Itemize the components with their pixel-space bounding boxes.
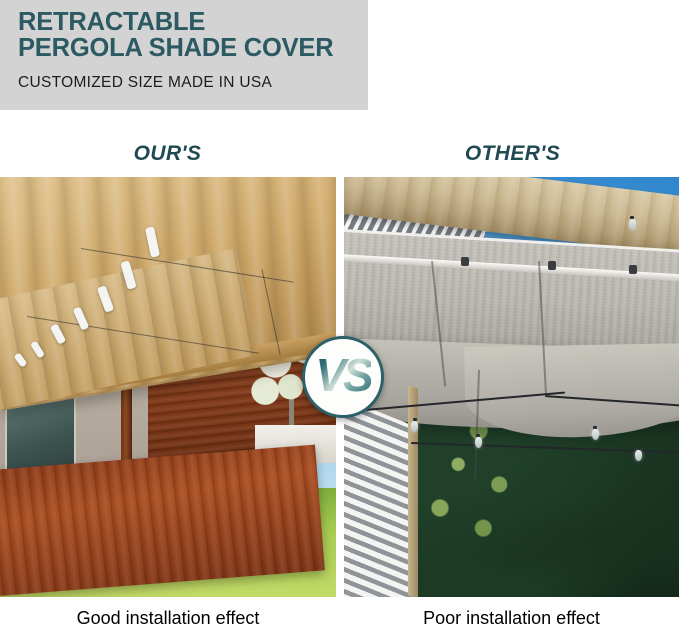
- photo-good-installation: [0, 177, 336, 597]
- white-louvered-shutter: [344, 395, 416, 597]
- string-light-bulb: [629, 219, 636, 230]
- vs-label: VS: [315, 352, 370, 398]
- string-light-bulb: [475, 437, 482, 448]
- string-light-bulb: [411, 421, 418, 432]
- shade-clip: [629, 265, 637, 274]
- shutter-post: [408, 385, 418, 597]
- photo-poor-installation: [344, 177, 679, 597]
- caption-good-installation: Good installation effect: [0, 608, 336, 629]
- shade-clip: [548, 261, 556, 270]
- caption-poor-installation: Poor installation effect: [344, 608, 679, 629]
- gray-shade-cloth-sagging-second: [464, 343, 679, 440]
- page-title: RETRACTABLE PERGOLA SHADE COVER: [18, 9, 366, 61]
- vs-badge: VS: [302, 336, 384, 418]
- shade-clip: [461, 257, 469, 266]
- string-light-bulb: [592, 429, 599, 440]
- wood-deck: [0, 445, 325, 597]
- column-label-others: OTHER'S: [430, 142, 595, 166]
- page-subtitle: CUSTOMIZED SIZE MADE IN USA: [18, 74, 272, 92]
- column-label-ours: OUR'S: [95, 142, 240, 166]
